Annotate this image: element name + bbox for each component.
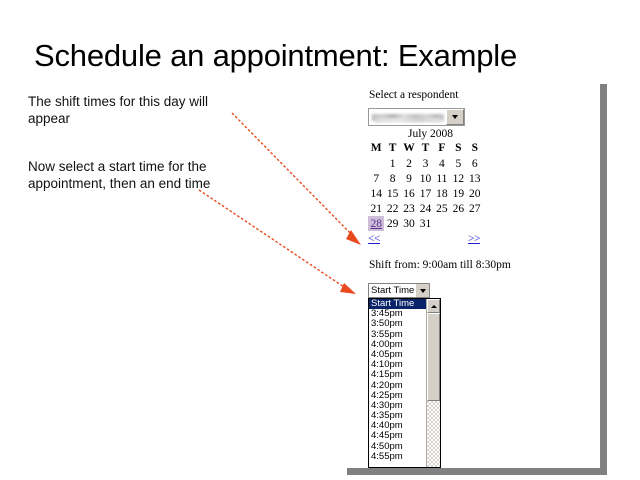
calendar-day-26[interactable]: 26 [450,201,466,216]
respondent-select[interactable] [368,108,465,126]
calendar-week-row: 28293031 [368,216,483,231]
calendar-day-3[interactable]: 3 [417,156,433,171]
scrollbar-track[interactable] [427,401,440,467]
calendar-day-14[interactable]: 14 [368,186,384,201]
calendar-day-12[interactable]: 12 [450,171,466,186]
arrow-to-start-time [199,190,356,294]
calendar-weekday-header-row: MTWTFSS [368,141,483,156]
start-time-option-list[interactable]: Start Time3:45pm3:50pm3:55pm4:00pm4:05pm… [369,299,426,467]
calendar-day-27[interactable]: 27 [467,201,483,216]
respondent-selected-value-redacted [369,109,446,125]
chevron-down-icon[interactable] [446,109,464,125]
panel-shadow-right [600,84,607,474]
start-time-option[interactable]: 4:15pm [369,370,426,380]
calendar-nav: << >> [368,233,483,247]
calendar-week-row: 78910111213 [368,171,483,186]
page-title: Schedule an appointment: Example [34,38,614,74]
calendar-day-19[interactable]: 19 [450,186,466,201]
calendar-day-1[interactable]: 1 [384,156,400,171]
calendar-day-29[interactable]: 29 [384,216,400,231]
calendar-weekday-2: W [401,141,417,156]
calendar-widget[interactable]: July 2008 MTWTFSS 1234567891011121314151… [368,128,483,247]
calendar-day-8[interactable]: 8 [384,171,400,186]
start-time-option[interactable]: 4:55pm [369,452,426,462]
calendar-day-30[interactable]: 30 [401,216,417,231]
calendar-weekday-0: M [368,141,384,156]
calendar-weekday-1: T [384,141,400,156]
annotation-shift-times: The shift times for this day will appear [28,93,243,127]
calendar-week-row: 21222324252627 [368,201,483,216]
scrollbar-vertical[interactable] [426,299,440,467]
triangle-up-icon[interactable] [427,299,440,313]
calendar-day-10[interactable]: 10 [417,171,433,186]
calendar-weekday-5: S [450,141,466,156]
panel-shadow-bottom [347,468,607,475]
calendar-body: 1234567891011121314151617181920212223242… [368,156,483,231]
calendar-day-25[interactable]: 25 [434,201,450,216]
calendar-day-5[interactable]: 5 [450,156,466,171]
start-time-select[interactable]: Start Time [368,283,430,298]
respondent-label: Select a respondent [369,89,458,101]
calendar-day-7[interactable]: 7 [368,171,384,186]
calendar-day-23[interactable]: 23 [401,201,417,216]
calendar-day-16[interactable]: 16 [401,186,417,201]
calendar-day-13[interactable]: 13 [467,171,483,186]
calendar-day-17[interactable]: 17 [417,186,433,201]
calendar-day-11[interactable]: 11 [434,171,450,186]
calendar-day-empty [434,216,450,231]
calendar-day-empty [368,156,384,171]
chevron-down-icon[interactable] [415,284,429,297]
calendar-next-link[interactable]: >> [468,233,480,245]
calendar-day-2[interactable]: 2 [401,156,417,171]
start-time-selected-value: Start Time [369,284,415,297]
calendar-weekday-4: F [434,141,450,156]
calendar-day-selected[interactable]: 28 [368,216,384,231]
calendar-week-row: 14151617181920 [368,186,483,201]
calendar-day-22[interactable]: 22 [384,201,400,216]
calendar-prev-link[interactable]: << [368,233,380,245]
shift-hours-text: Shift from: 9:00am till 8:30pm [369,259,511,271]
calendar-weekday-6: S [467,141,483,156]
calendar-week-row: 123456 [368,156,483,171]
calendar-day-4[interactable]: 4 [434,156,450,171]
start-time-dropdown-list[interactable]: Start Time3:45pm3:50pm3:55pm4:00pm4:05pm… [368,298,441,468]
scrollbar-thumb[interactable] [427,313,440,401]
calendar-month-caption: July 2008 [368,128,483,140]
calendar-day-6[interactable]: 6 [467,156,483,171]
calendar-day-24[interactable]: 24 [417,201,433,216]
calendar-day-15[interactable]: 15 [384,186,400,201]
calendar-table: MTWTFSS 12345678910111213141516171819202… [368,141,483,231]
calendar-day-18[interactable]: 18 [434,186,450,201]
calendar-day-31[interactable]: 31 [417,216,433,231]
calendar-day-20[interactable]: 20 [467,186,483,201]
annotation-select-start-time: Now select a start time for the appointm… [28,158,243,192]
calendar-day-empty [450,216,466,231]
calendar-day-21[interactable]: 21 [368,201,384,216]
browser-screenshot-panel: Select a respondent July 2008 MTWTFSS 12… [341,78,600,468]
calendar-day-empty [467,216,483,231]
calendar-day-9[interactable]: 9 [401,171,417,186]
calendar-weekday-3: T [417,141,433,156]
